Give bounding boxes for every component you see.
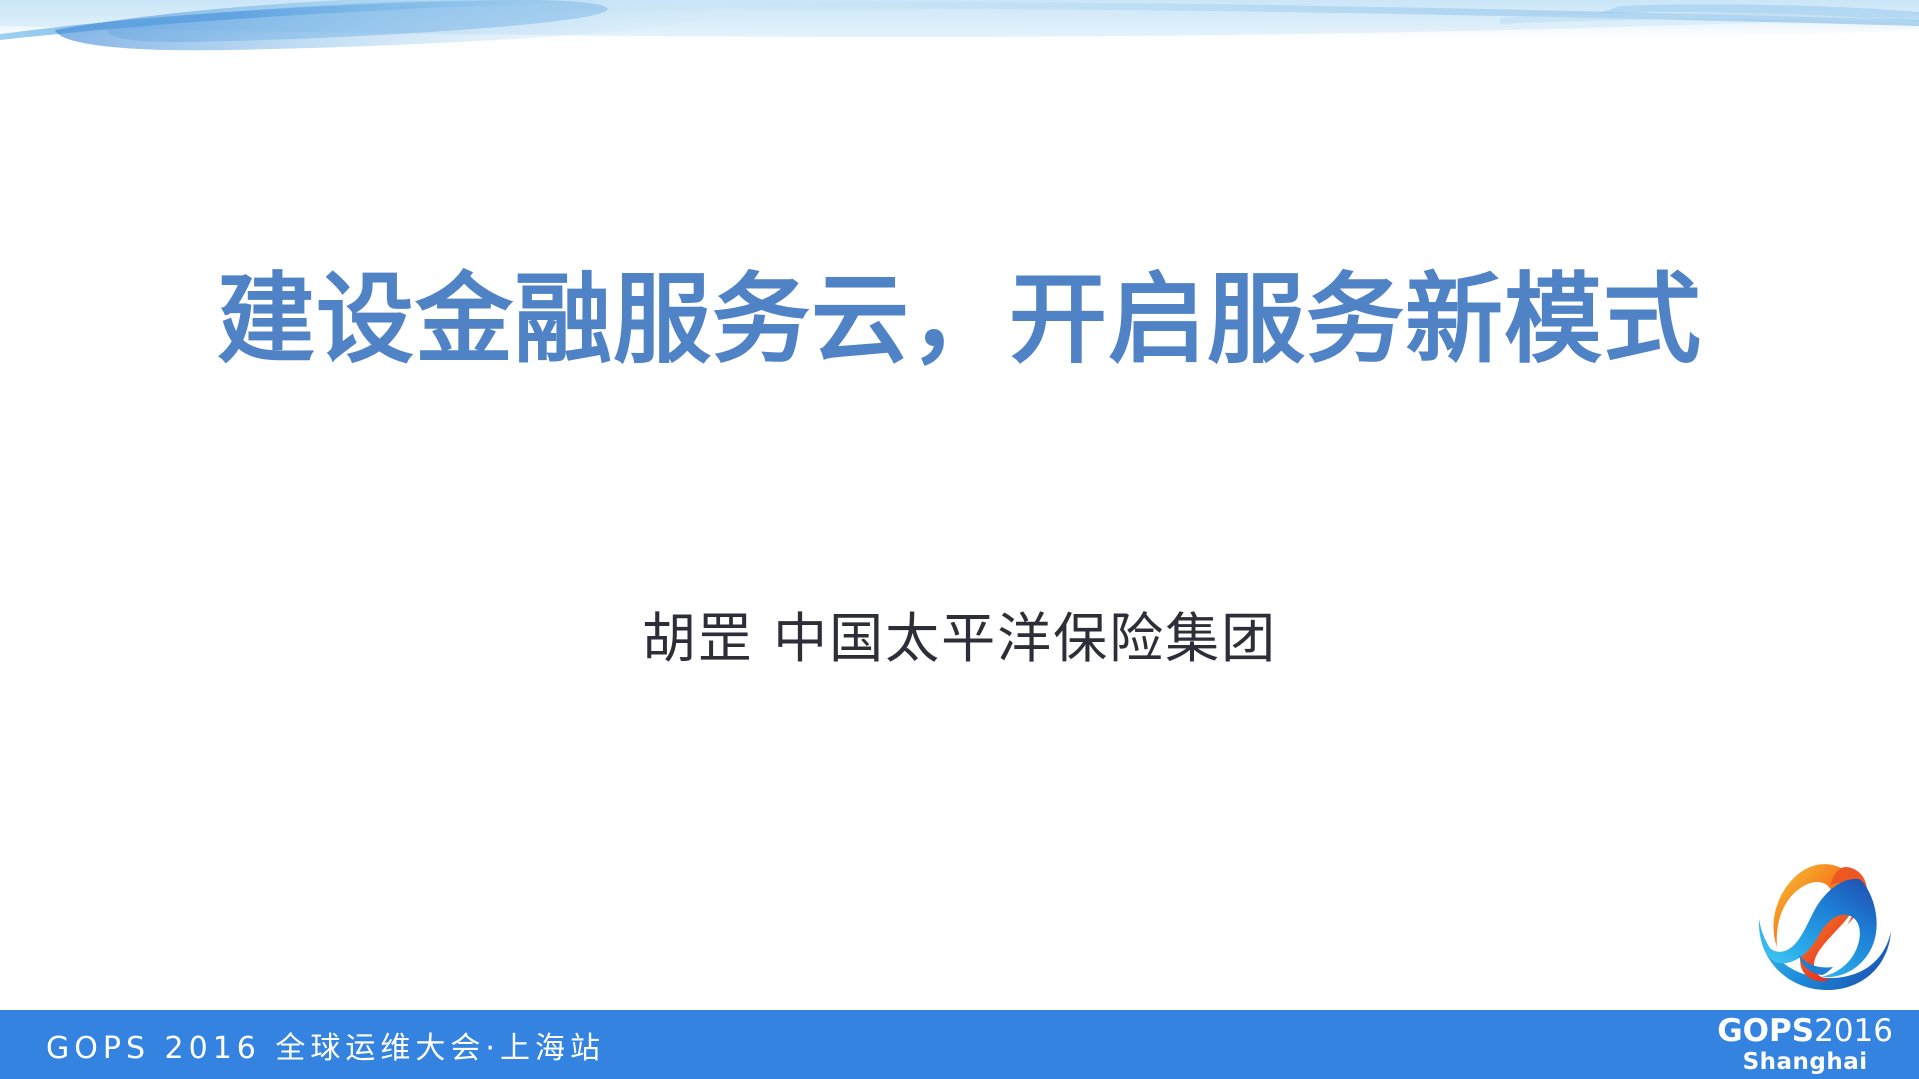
header-wave-decoration bbox=[0, 0, 1919, 72]
gops-brand: GOPS bbox=[1717, 1013, 1814, 1049]
gops-logo-main: GOPS2016 bbox=[1717, 1016, 1893, 1047]
gops-logo-city: Shanghai bbox=[1717, 1051, 1893, 1074]
company-emblem bbox=[1747, 847, 1897, 997]
gops-footer-logo: GOPS2016 Shanghai bbox=[1717, 1016, 1893, 1074]
blue-wave-ribbon-icon bbox=[0, 0, 1919, 72]
title-container: 建设金融服务云，开启服务新模式 bbox=[0, 268, 1919, 374]
presenter-and-company: 胡罡 中国太平洋保险集团 bbox=[642, 608, 1277, 670]
gops-year: 2016 bbox=[1814, 1013, 1893, 1049]
subtitle-container: 胡罡 中国太平洋保险集团 bbox=[0, 608, 1919, 670]
footer-bar: GOPS 2016 全球运维大会·上海站 GOPS2016 Shanghai bbox=[0, 1010, 1919, 1079]
page-title: 建设金融服务云，开启服务新模式 bbox=[217, 268, 1702, 374]
taiping-flame-wave-logo-icon bbox=[1747, 847, 1897, 997]
event-title-footer: GOPS 2016 全球运维大会·上海站 bbox=[46, 1023, 605, 1067]
presentation-slide: 建设金融服务云，开启服务新模式 胡罡 中国太平洋保险集团 bbox=[0, 0, 1919, 1079]
